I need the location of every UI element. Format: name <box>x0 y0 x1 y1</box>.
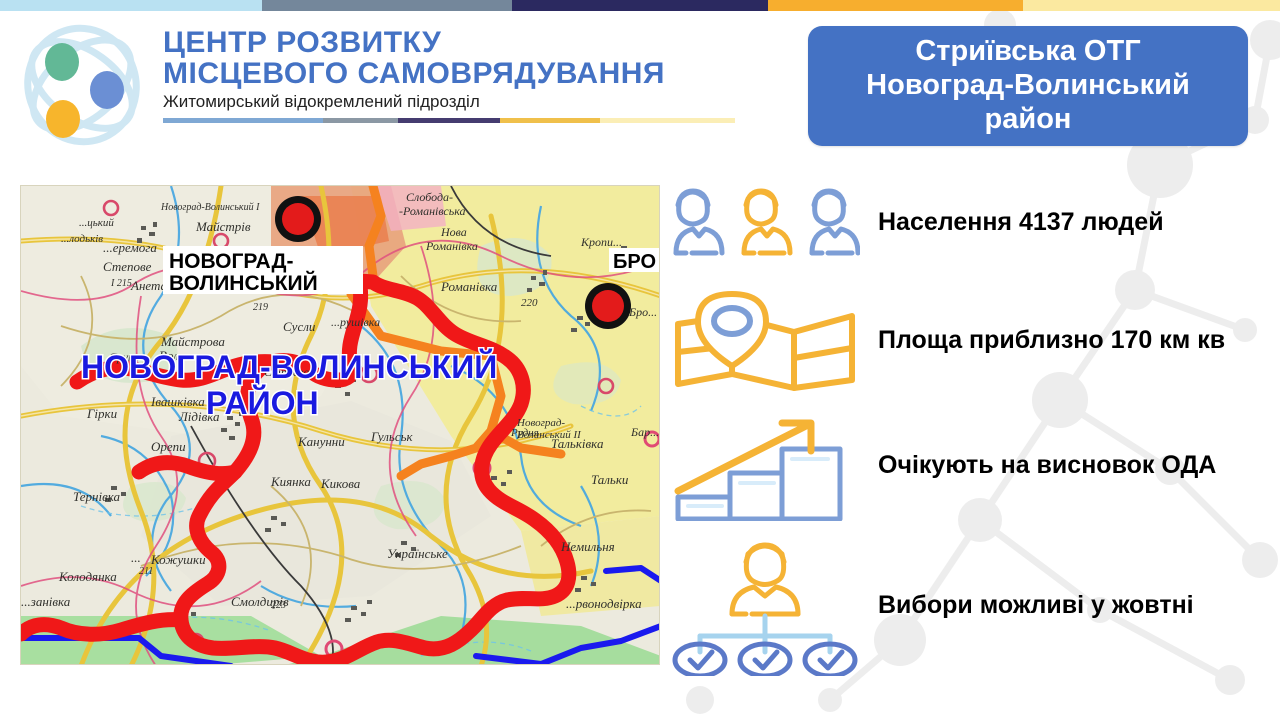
map-graphic: Новоград-Волинський І Майстрів ...цький … <box>21 186 660 665</box>
svg-text:Сусли: Сусли <box>283 319 316 334</box>
topbar-segment-orange <box>768 0 1023 11</box>
svg-text:...рушівка: ...рушівка <box>331 315 380 329</box>
fact-row-population: Населення 4137 людей <box>660 175 1250 270</box>
fact-text-area: Площа приблизно 170 км кв <box>870 325 1250 356</box>
svg-text:РАЙОН: РАЙОН <box>206 385 319 421</box>
logo-green-circle <box>45 43 79 81</box>
topbar-segment-light-yellow <box>1023 0 1280 11</box>
title-box: Стриївська ОТГ Новоград-Волинський район <box>808 26 1248 146</box>
title-line-3: район <box>866 103 1190 137</box>
svg-text:...цький: ...цький <box>79 217 114 229</box>
rule-segment-gray <box>323 118 398 123</box>
svg-text:Бро...: Бро... <box>628 305 657 319</box>
svg-text:Романівка: Романівка <box>425 239 478 253</box>
facts-list: Населення 4137 людей <box>660 175 1270 685</box>
fact-row-elections: Вибори можливі у жовтні <box>660 533 1250 678</box>
svg-text:...еремога: ...еремога <box>103 240 157 255</box>
svg-text:...рвонодвірка: ...рвонодвірка <box>566 596 642 611</box>
fact-icon-cell <box>660 288 870 393</box>
center-logo <box>14 22 150 148</box>
folded-map-pin-icon <box>670 288 860 393</box>
top-color-bar <box>0 0 1280 11</box>
fact-text-elections: Вибори можливі у жовтні <box>870 590 1250 621</box>
map-brod-label: БРО <box>609 248 660 273</box>
svg-text:Анета: Анета <box>130 278 168 293</box>
title-line-1: Стриївська ОТГ <box>866 35 1190 69</box>
brand-block: ЦЕНТР РОЗВИТКУ МІСЦЕВОГО САМОВРЯДУВАННЯ … <box>163 28 763 123</box>
svg-text:Колодянка: Колодянка <box>58 569 117 584</box>
svg-text:Канунни: Канунни <box>297 434 345 449</box>
svg-text:Гірки: Гірки <box>86 406 118 421</box>
brand-line-1: ЦЕНТР РОЗВИТКУ <box>163 28 763 59</box>
logo-orange-circle <box>46 100 80 138</box>
svg-text:ВОЛИНСЬКИЙ: ВОЛИНСЬКИЙ <box>169 271 318 295</box>
map-city-label: НОВОГРАД- ВОЛИНСЬКИЙ <box>163 246 363 295</box>
rule-segment-blue <box>163 118 323 123</box>
svg-text:Степове: Степове <box>103 259 152 274</box>
svg-text:БРО: БРО <box>613 251 656 273</box>
fact-row-area: Площа приблизно 170 км кв <box>660 283 1250 398</box>
map-marker-brodske <box>585 283 631 329</box>
svg-text:Кропи...: Кропи... <box>580 235 622 249</box>
svg-text:Немильня: Немильня <box>560 539 615 554</box>
brand-underline-rule <box>163 118 735 123</box>
logo-blue-circle <box>90 71 124 109</box>
org-chart-person-icon <box>670 536 860 676</box>
svg-text:Волинський ІІ: Волинський ІІ <box>517 429 582 441</box>
svg-text:Слобода-: Слобода- <box>406 190 453 204</box>
svg-text:219: 219 <box>253 302 268 313</box>
svg-text:Майстрова: Майстрова <box>160 334 225 349</box>
fact-icon-cell <box>660 411 870 521</box>
svg-text:НОВОГРАД-: НОВОГРАД- <box>169 250 293 273</box>
rule-segment-lightyellow <box>600 118 735 123</box>
svg-text:Тернівка: Тернівка <box>73 489 120 504</box>
fact-text-population: Населення 4137 людей <box>870 207 1250 238</box>
svg-text:...занівка: ...занівка <box>21 594 71 609</box>
svg-text:211: 211 <box>139 566 153 577</box>
svg-text:Майстрів: Майстрів <box>195 219 251 234</box>
brand-line-2: МІСЦЕВОГО САМОВРЯДУВАННЯ <box>163 59 763 90</box>
topbar-segment-dark-navy <box>512 0 768 11</box>
rule-segment-orange <box>500 118 600 123</box>
svg-text:Кожушки: Кожушки <box>150 552 206 567</box>
svg-text:Нова: Нова <box>440 225 467 239</box>
svg-text:Орепи: Орепи <box>151 439 186 454</box>
svg-text:Тальки: Тальки <box>591 472 629 487</box>
svg-text:-Романівська: -Романівська <box>399 204 466 218</box>
svg-text:Романівка: Романівка <box>440 279 498 294</box>
svg-text:Івашківка: Івашківка <box>150 394 205 409</box>
svg-text:Українське: Українське <box>387 546 448 561</box>
fact-icon-cell <box>660 183 870 263</box>
svg-text:Киянка: Киянка <box>270 474 311 489</box>
fact-row-status: Очікують на висновок ОДА <box>660 403 1250 528</box>
three-people-icon <box>670 183 860 263</box>
slide-root: ЦЕНТР РОЗВИТКУ МІСЦЕВОГО САМОВРЯДУВАННЯ … <box>0 0 1280 720</box>
svg-text:Кикова: Кикова <box>320 476 361 491</box>
title-line-2: Новоград-Волинський <box>866 69 1190 103</box>
topbar-segment-light-blue <box>0 0 262 11</box>
svg-text:...лодьків: ...лодьків <box>61 233 103 245</box>
svg-text:223: 223 <box>271 600 286 611</box>
rule-segment-navy <box>398 118 500 123</box>
svg-text:НОВОГРАД-ВОЛИНСЬКИЙ: НОВОГРАД-ВОЛИНСЬКИЙ <box>81 349 497 385</box>
map-image: Новоград-Волинський І Майстрів ...цький … <box>20 185 660 665</box>
svg-text:...: ... <box>131 550 141 565</box>
svg-text:Гульськ: Гульськ <box>370 429 414 444</box>
svg-text:Новоград-Волинський І: Новоград-Волинський І <box>160 202 260 213</box>
map-marker-novohrad <box>275 196 321 242</box>
growth-bar-chart-icon <box>670 411 860 521</box>
svg-text:Бар...: Бар... <box>630 425 659 439</box>
svg-text:220: 220 <box>521 297 538 309</box>
svg-text:Новоград-: Новоград- <box>516 417 565 429</box>
title-box-text: Стриївська ОТГ Новоград-Волинський район <box>856 35 1200 137</box>
brand-subtitle: Житомирський відокремлений підрозділ <box>163 92 763 112</box>
fact-icon-cell <box>660 536 870 676</box>
topbar-segment-slate-gray <box>262 0 512 11</box>
svg-text:І 215: І 215 <box>110 278 132 289</box>
fact-text-status: Очікують на висновок ОДА <box>870 450 1250 481</box>
